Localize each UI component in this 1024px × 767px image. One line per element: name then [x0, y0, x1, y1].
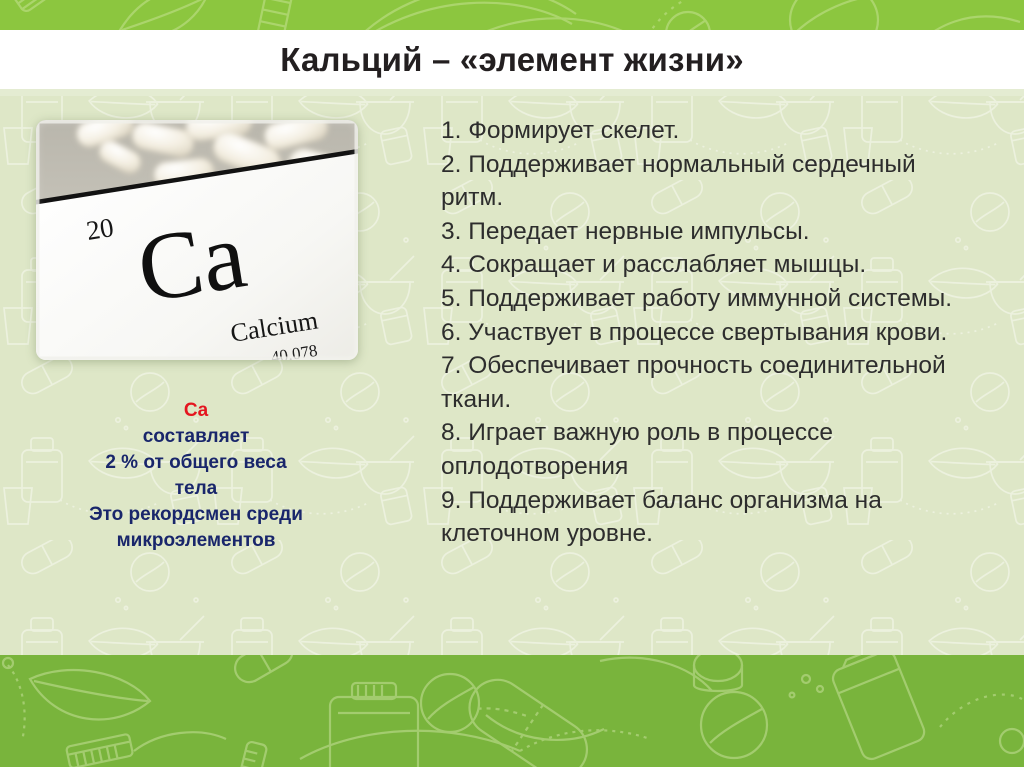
top-banner-pattern	[0, 0, 1024, 30]
list-item: 8. Играет важную роль в процессе оплодот…	[441, 416, 971, 483]
caption-line-3: тела	[36, 476, 356, 502]
bottom-banner-pattern	[0, 655, 1024, 767]
svg-text:Ca: Ca	[131, 200, 253, 322]
list-item: 6. Участвует в процессе свертывания кров…	[441, 316, 971, 350]
list-item: 9. Поддерживает баланс организма на клет…	[441, 484, 971, 551]
caption-symbol: Ca	[36, 398, 356, 424]
svg-text:20: 20	[84, 212, 115, 246]
list-item: 5. Поддерживает работу иммунной системы.	[441, 282, 971, 316]
calcium-caption: Ca составляет 2 % от общего веса тела Эт…	[36, 398, 356, 554]
calcium-photo-frame: 20 Ca Calcium 40.078	[36, 120, 358, 360]
bottom-green-banner: TIENS TIENS	[0, 655, 1024, 767]
top-green-banner	[0, 0, 1024, 30]
list-item: 1. Формирует скелет.	[441, 114, 971, 148]
list-item: 3. Передает нервные импульсы.	[441, 215, 971, 249]
list-item: 2. Поддерживает нормальный сердечный рит…	[441, 148, 971, 215]
calcium-photo: 20 Ca Calcium 40.078	[36, 120, 358, 360]
page-title: Кальций – «элемент жизни»	[280, 41, 744, 79]
calcium-functions-list: 1. Формирует скелет. 2. Поддерживает нор…	[441, 114, 971, 551]
caption-line-4: Это рекордсмен среди	[36, 502, 356, 528]
list-item: 4. Сокращает и расслабляет мышцы.	[441, 248, 971, 282]
title-underline-strip	[0, 89, 1024, 96]
caption-line-5: микроэлементов	[36, 528, 356, 554]
caption-line-1: составляет	[36, 424, 356, 450]
slide: Кальций – «элемент жизни»	[0, 0, 1024, 767]
list-item: 7. Обеспечивает прочность соединительной…	[441, 349, 971, 416]
caption-line-2: 2 % от общего веса	[36, 450, 356, 476]
title-band: Кальций – «элемент жизни»	[0, 30, 1024, 89]
